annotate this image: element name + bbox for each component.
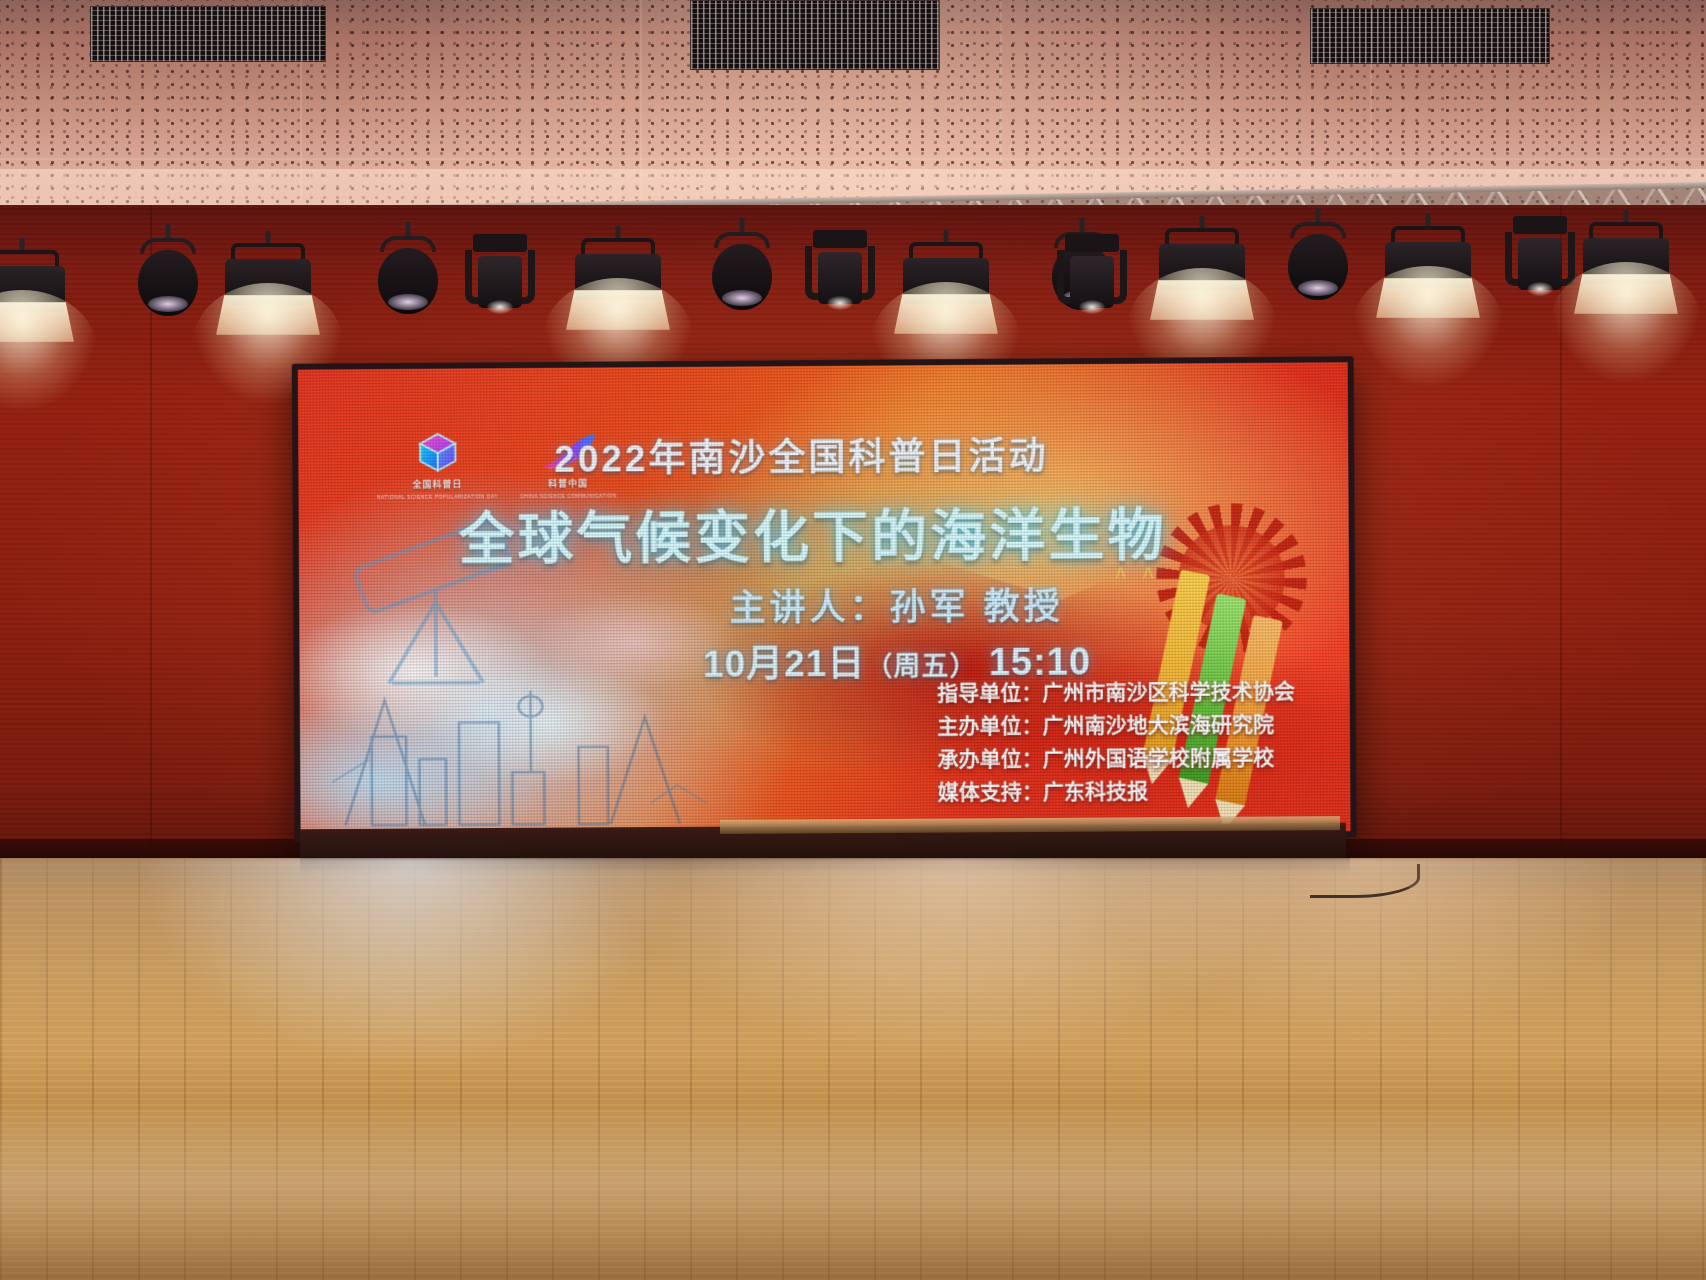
led-panel-surface: ᴧ ᴧ [298,362,1351,836]
organizer-media: 媒体支持：广东科技报 [938,775,1296,810]
floor-sheen [0,1100,1706,1280]
ceiling-air-vent-right [1310,8,1550,64]
stage-scene: ᴧ ᴧ [0,0,1706,1280]
date-text: 10月21日 [703,643,866,685]
ceiling [0,0,1706,215]
wall-panel-seam [1560,205,1562,865]
led-display-screen[interactable]: ᴧ ᴧ [292,356,1357,842]
screen-bezel: ᴧ ᴧ [292,356,1357,842]
organizer-host: 主办单位：广州南沙地大滨海研究院 [937,708,1295,743]
ceiling-air-vent-center [690,0,940,70]
speaker-line: 主讲人：孙军 教授 [299,576,1349,634]
stage-floor [0,858,1706,1280]
ceiling-panel-seam [0,158,1706,160]
organizer-undertaker: 承办单位：广州外国语学校附属学校 [937,742,1295,777]
lecture-title: 全球气候变化下的海洋生物 [298,489,1348,577]
event-heading: 2022年南沙全国科普日活动 [298,423,1348,484]
organizer-guidance: 指导单位：广州市南沙区科学技术协会 [937,675,1295,710]
ceiling-air-vent-left [90,6,326,62]
screen-text-block: 2022年南沙全国科普日活动 全球气候变化下的海洋生物 主讲人：孙军 教授 10… [298,362,1351,836]
organizer-list: 指导单位：广州市南沙区科学技术协会 主办单位：广州南沙地大滨海研究院 承办单位：… [937,675,1296,810]
